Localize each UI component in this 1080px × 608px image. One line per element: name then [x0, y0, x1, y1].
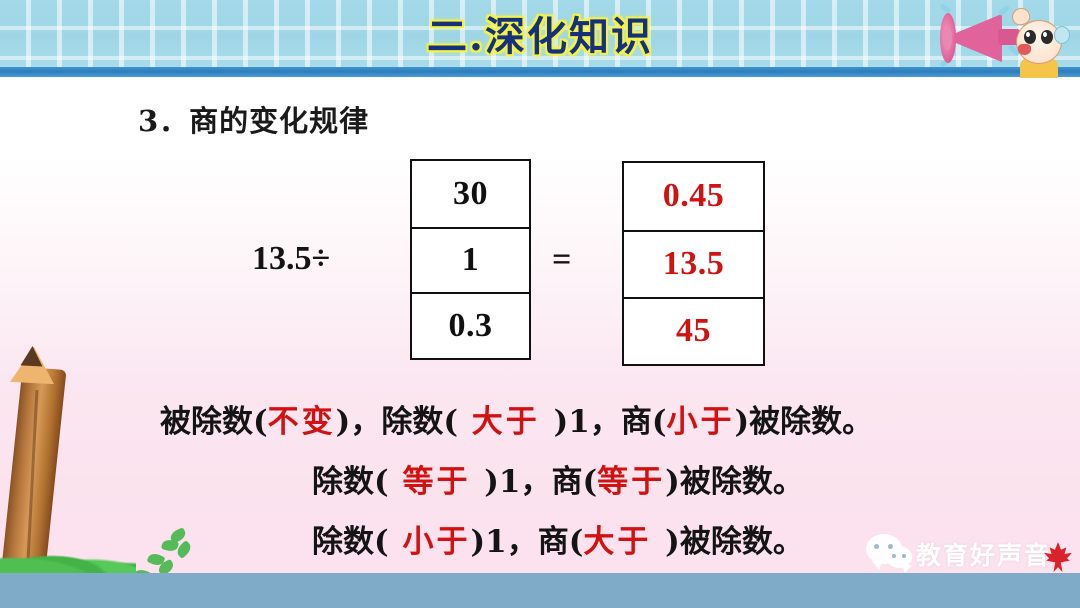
rule-static-text: )1，商( [470, 524, 583, 560]
rule-static-text: 除数( [312, 524, 389, 560]
equals-sign: = [552, 241, 571, 279]
head-icon [1016, 20, 1062, 64]
wechat-icon [866, 534, 910, 572]
rule-static-text: )，除数( [336, 404, 458, 440]
rule-answer-text: 不变 [268, 404, 336, 440]
child-with-megaphone-icon [938, 0, 1080, 78]
eye-highlight-icon [1026, 32, 1030, 37]
table-cell: 13.5 [624, 230, 763, 297]
pencil-tip-icon [20, 345, 43, 366]
eye-highlight-icon [1043, 32, 1047, 37]
quotient-table: 0.45 13.5 45 [622, 161, 765, 366]
rule-static-text: )1，商( [484, 464, 597, 500]
megaphone-inner-icon [943, 26, 952, 50]
table-cell: 45 [624, 297, 763, 364]
page-title: 二.深化知识 [0, 4, 1080, 62]
table-cell: 30 [412, 161, 529, 227]
rule-answer-text: 小于 [667, 404, 735, 440]
rule-answer-text: 等于 [597, 464, 665, 500]
rule-answer-text: 小于 [389, 524, 471, 560]
rule-answer-text: 大于 [583, 524, 665, 560]
watermark: 教育好声音 [866, 530, 1080, 582]
spark-icon [940, 3, 952, 13]
watermark-text: 教育好声音 [916, 536, 1051, 572]
rule-static-text: )被除数。 [665, 524, 804, 560]
divisor-table: 30 1 0.3 [410, 159, 531, 360]
table-cell: 0.3 [412, 292, 529, 358]
pencil-decoration [0, 330, 200, 608]
rule-static-text: 除数( [312, 464, 389, 500]
dividend-expression: 13.5÷ [252, 240, 330, 278]
mouth-icon [1018, 44, 1031, 55]
spark-icon [998, 5, 1011, 16]
rule-answer-text: 等于 [389, 464, 485, 500]
header-divider-rule [0, 67, 1080, 77]
ear-icon [1054, 26, 1070, 44]
slide-root: 二.深化知识 3．商的变化规律 13.5÷ 30 1 0.3 = 0.45 13… [0, 0, 1080, 608]
table-cell: 1 [412, 227, 529, 293]
rule-static-text: )1，商( [554, 404, 667, 440]
rule-answer-text: 大于 [458, 404, 554, 440]
rule-static-text: )被除数。 [735, 404, 874, 440]
table-cell: 0.45 [624, 163, 763, 230]
section-heading: 3．商的变化规律 [138, 98, 369, 140]
rule-static-text: )被除数。 [665, 464, 804, 500]
